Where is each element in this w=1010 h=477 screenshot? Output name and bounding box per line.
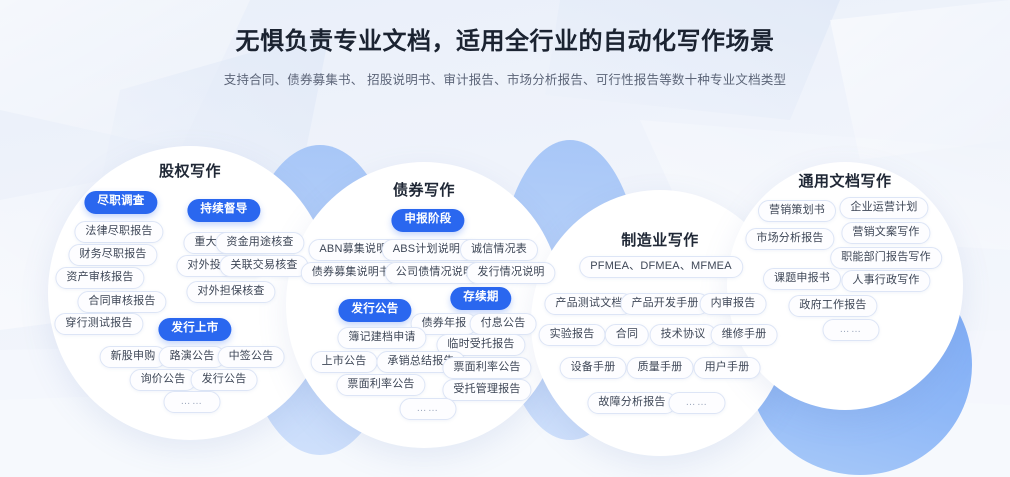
tag-pill[interactable]: 营销策划书: [758, 200, 836, 222]
tag-pill[interactable]: 企业运营计划: [839, 197, 928, 219]
tag-pill[interactable]: 政府工作报告: [788, 295, 877, 317]
page-subtitle: 支持合同、债券募集书、 招股说明书、审计报告、市场分析报告、可行性报告等数十种专…: [0, 57, 1010, 88]
tag-pill[interactable]: 职能部门报告写作: [830, 247, 942, 269]
tag-pill[interactable]: 人事行政写作: [841, 270, 930, 292]
page-title: 无惧负责专业文档，适用全行业的自动化写作场景: [0, 0, 1010, 57]
tag-pill[interactable]: 市场分析报告: [745, 228, 834, 250]
tag-pill[interactable]: 营销文案写作: [841, 222, 930, 244]
tag-pill-more[interactable]: ……: [823, 319, 880, 341]
page-header: 无惧负责专业文档，适用全行业的自动化写作场景 支持合同、债券募集书、 招股说明书…: [0, 0, 1010, 88]
tag-pill[interactable]: 课题申报书: [763, 268, 841, 290]
group-title-general: 通用文档写作: [798, 170, 891, 191]
